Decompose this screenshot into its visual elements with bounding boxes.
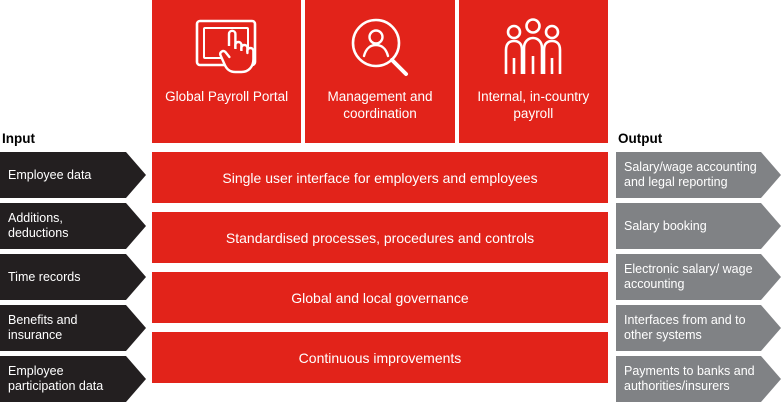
top-card-label: Management and coordination xyxy=(305,88,454,122)
input-item-employee-participation-data[interactable]: Employee participation data xyxy=(0,356,146,402)
output-heading: Output xyxy=(618,131,662,146)
center-bar-group: Single user interface for employers and … xyxy=(152,152,608,403)
output-item-payments[interactable]: Payments to banks and authorities/insure… xyxy=(616,356,781,402)
center-bar-single-user-interface[interactable]: Single user interface for employers and … xyxy=(152,152,608,203)
center-bar-label: Single user interface for employers and … xyxy=(222,170,537,186)
output-column: Salary/wage accounting and legal reporti… xyxy=(616,152,781,402)
output-item-interfaces[interactable]: Interfaces from and to other systems xyxy=(616,305,781,351)
output-item-label: Interfaces from and to other systems xyxy=(624,305,764,351)
input-item-label: Additions, deductions xyxy=(8,203,124,249)
input-heading: Input xyxy=(2,131,35,146)
output-item-label: Salary booking xyxy=(624,203,764,249)
input-item-label: Benefits and insurance xyxy=(8,305,124,351)
center-bar-label: Continuous improvements xyxy=(299,350,462,366)
output-item-label: Electronic salary/ wage accounting xyxy=(624,254,764,300)
top-card-label: Internal, in-country payroll xyxy=(459,88,608,122)
center-bar-continuous-improvements[interactable]: Continuous improvements xyxy=(152,332,608,383)
payroll-diagram: Global Payroll Portal Management and coo… xyxy=(0,0,781,403)
three-people-icon xyxy=(497,10,569,88)
top-card-internal-in-country-payroll[interactable]: Internal, in-country payroll xyxy=(459,0,608,143)
output-item-salary-booking[interactable]: Salary booking xyxy=(616,203,781,249)
input-item-benefits-and-insurance[interactable]: Benefits and insurance xyxy=(0,305,146,351)
input-item-label: Employee participation data xyxy=(8,356,124,402)
input-column: Employee data Additions, deductions Time… xyxy=(0,152,146,402)
input-item-additions-deductions[interactable]: Additions, deductions xyxy=(0,203,146,249)
input-item-label: Time records xyxy=(8,254,124,300)
input-item-label: Employee data xyxy=(8,152,124,198)
top-card-label: Global Payroll Portal xyxy=(159,88,294,105)
input-item-employee-data[interactable]: Employee data xyxy=(0,152,146,198)
tablet-touch-icon xyxy=(189,10,265,88)
input-item-time-records[interactable]: Time records xyxy=(0,254,146,300)
output-item-salary-wage-accounting[interactable]: Salary/wage accounting and legal reporti… xyxy=(616,152,781,198)
output-item-label: Salary/wage accounting and legal reporti… xyxy=(624,152,764,198)
center-bar-label: Standardised processes, procedures and c… xyxy=(226,230,534,246)
output-item-label: Payments to banks and authorities/insure… xyxy=(624,356,764,402)
top-card-group: Global Payroll Portal Management and coo… xyxy=(152,0,608,143)
center-bar-standardised-processes[interactable]: Standardised processes, procedures and c… xyxy=(152,212,608,263)
output-item-electronic-salary-wage-accounting[interactable]: Electronic salary/ wage accounting xyxy=(616,254,781,300)
top-card-global-payroll-portal[interactable]: Global Payroll Portal xyxy=(152,0,301,143)
magnifier-person-icon xyxy=(344,10,416,88)
top-card-management-and-coordination[interactable]: Management and coordination xyxy=(305,0,454,143)
center-bar-label: Global and local governance xyxy=(291,290,468,306)
center-bar-global-local-governance[interactable]: Global and local governance xyxy=(152,272,608,323)
